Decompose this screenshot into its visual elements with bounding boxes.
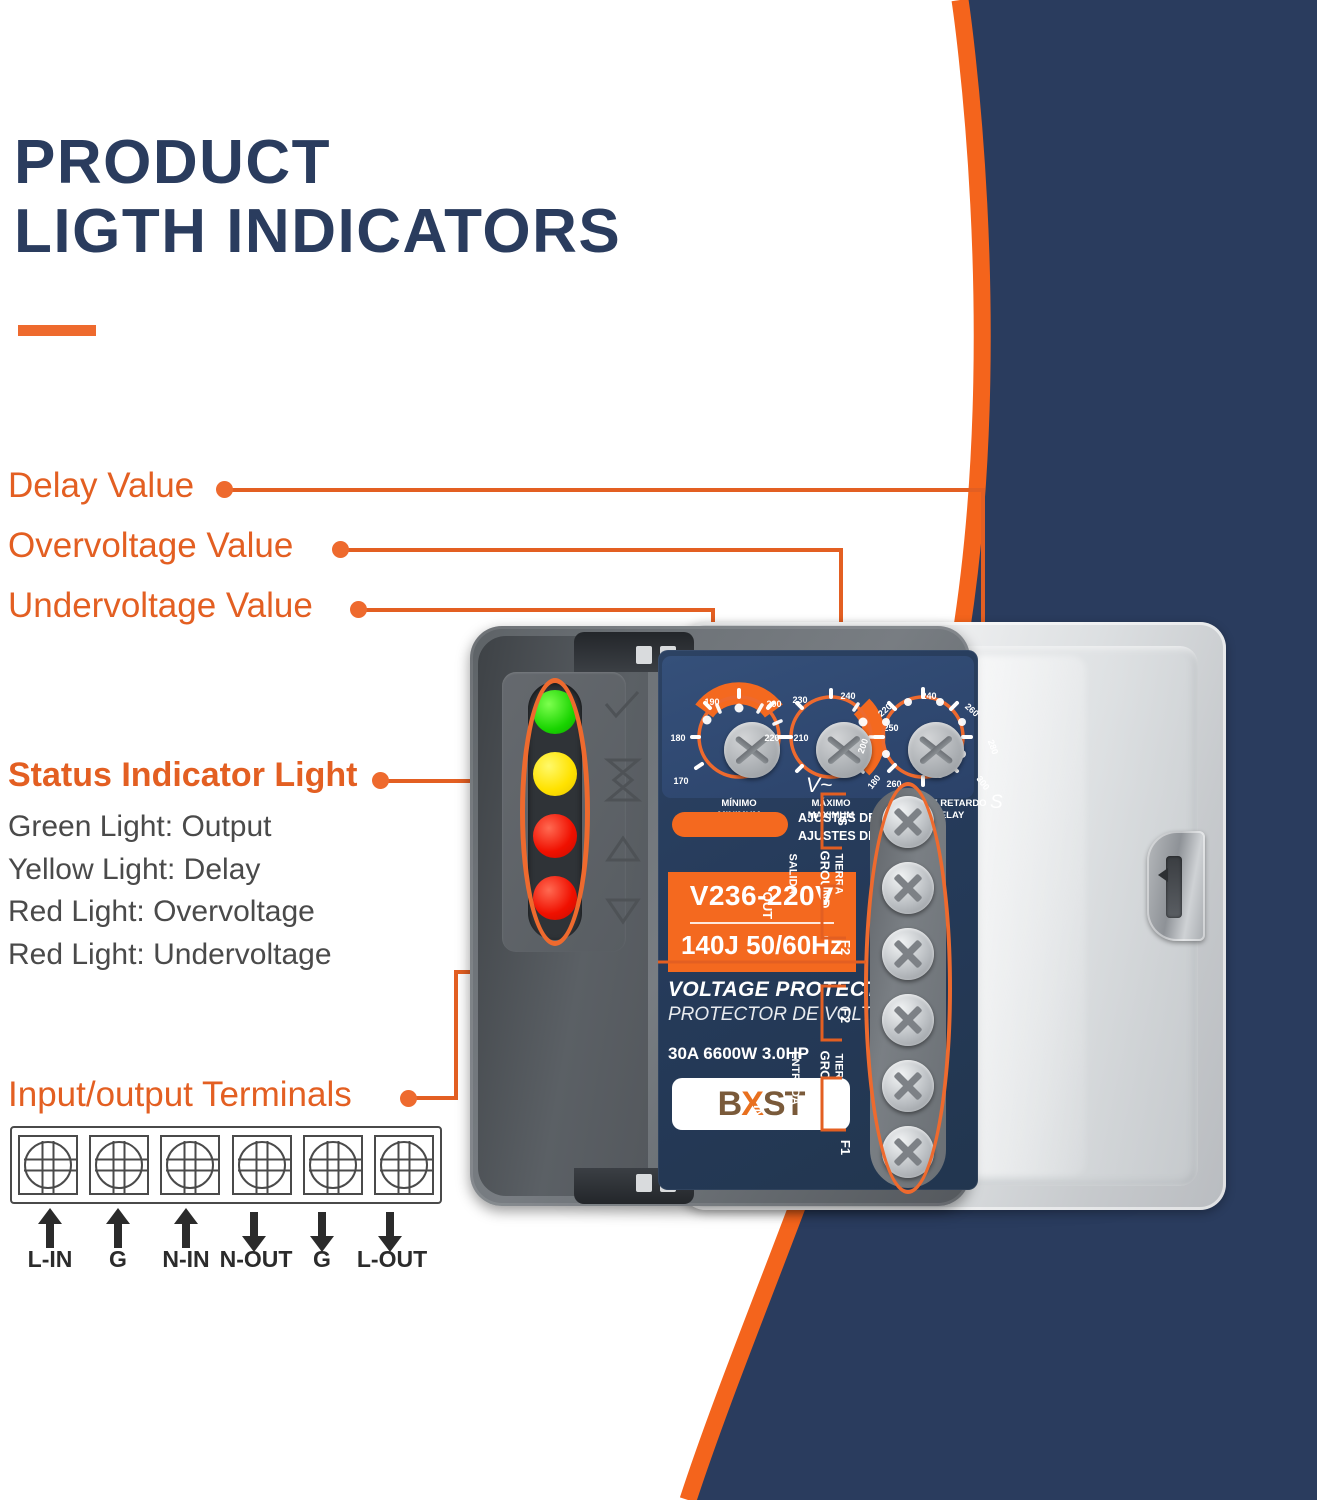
terminal-label-5: G — [313, 1246, 331, 1273]
terminal-screw-2 — [89, 1135, 149, 1195]
led-symbols — [594, 682, 652, 940]
terminal-screw-5 — [303, 1135, 363, 1195]
callout-undervoltage-value: Undervoltage Value — [8, 586, 313, 626]
terminal-strip-diagram — [10, 1126, 442, 1204]
delay-tick-240: 240 — [921, 691, 936, 701]
hourglass-icon — [608, 760, 638, 800]
terminal-label-1: L-IN — [28, 1246, 73, 1273]
legend-item-red-under: Red Light: Undervoltage — [8, 934, 332, 977]
callout-dot-terminals — [400, 1090, 417, 1107]
infographic-stage: PRODUCT LIGTH INDICATORS Delay Value Ove… — [0, 0, 1317, 1500]
terminal-label-4: N-OUT — [220, 1246, 293, 1273]
seconds-symbol: S — [990, 792, 1003, 814]
minimum-tick-180: 180 — [670, 733, 685, 743]
callout-delay-value: Delay Value — [8, 466, 194, 506]
terminal-highlight-ellipse — [864, 782, 952, 1194]
minimum-tick-190: 190 — [704, 697, 719, 707]
arrow-up-2 — [106, 1208, 130, 1248]
terminal-label-2: G — [109, 1246, 127, 1273]
terminal-screw-6 — [374, 1135, 434, 1195]
status-light-legend: Green Light: Output Yellow Light: Delay … — [8, 806, 332, 976]
minimum-tick-170: 170 — [673, 776, 688, 786]
voltage-protector-device: 170 180 190 200 210 MÍNIMO MINIMUM V~ — [466, 616, 1226, 1216]
triangle-down-icon — [608, 900, 638, 922]
callout-overvoltage-value: Overvoltage Value — [8, 526, 293, 566]
time-delay-dial[interactable] — [897, 711, 975, 789]
arrow-up-3 — [174, 1208, 198, 1248]
legend-item-green: Green Light: Output — [8, 806, 332, 849]
callout-dot-status — [372, 772, 389, 789]
triangle-up-icon — [608, 838, 638, 860]
terminal-labels: L-IN G N-IN N-OUT G L-OUT — [10, 1246, 442, 1276]
led-highlight-ellipse — [520, 678, 590, 946]
callout-status-indicator-light: Status Indicator Light — [8, 756, 357, 795]
maximum-tick-230: 230 — [792, 695, 807, 705]
terminal-screw-4 — [232, 1135, 292, 1195]
terminal-screw-3 — [160, 1135, 220, 1195]
legend-item-red-over: Red Light: Overvoltage — [8, 891, 332, 934]
terminal-brackets — [746, 786, 866, 1186]
arrow-up-1 — [38, 1208, 62, 1248]
terminal-screw-1 — [18, 1135, 78, 1195]
logo-prefix: B — [718, 1085, 742, 1123]
latch-keyway — [1166, 856, 1182, 918]
terminal-label-6: L-OUT — [357, 1246, 427, 1273]
legend-item-yellow: Yellow Light: Delay — [8, 849, 332, 892]
callout-dot-overvoltage — [332, 541, 349, 558]
terminal-label-3: N-IN — [162, 1246, 209, 1273]
callout-input-output-terminals: Input/output Terminals — [8, 1075, 352, 1115]
maximum-tick-240: 240 — [840, 691, 855, 701]
time-delay-knob[interactable] — [908, 722, 964, 778]
callout-dot-delay — [216, 481, 233, 498]
check-icon — [606, 692, 638, 716]
callout-dot-undervoltage — [350, 601, 367, 618]
maximum-tick-220: 220 — [764, 733, 779, 743]
